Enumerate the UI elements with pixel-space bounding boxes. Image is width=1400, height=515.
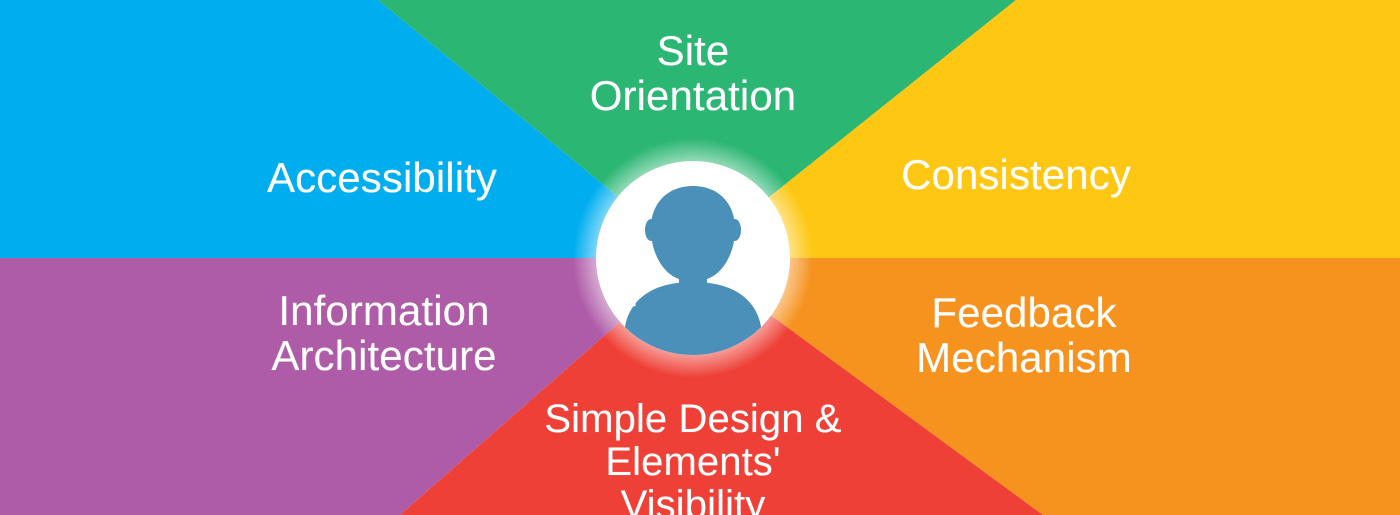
center-badge[interactable] [573,138,813,378]
center-badge-graphic [573,138,813,378]
infographic-canvas: Accessibility Site Orientation Consisten… [0,0,1400,515]
